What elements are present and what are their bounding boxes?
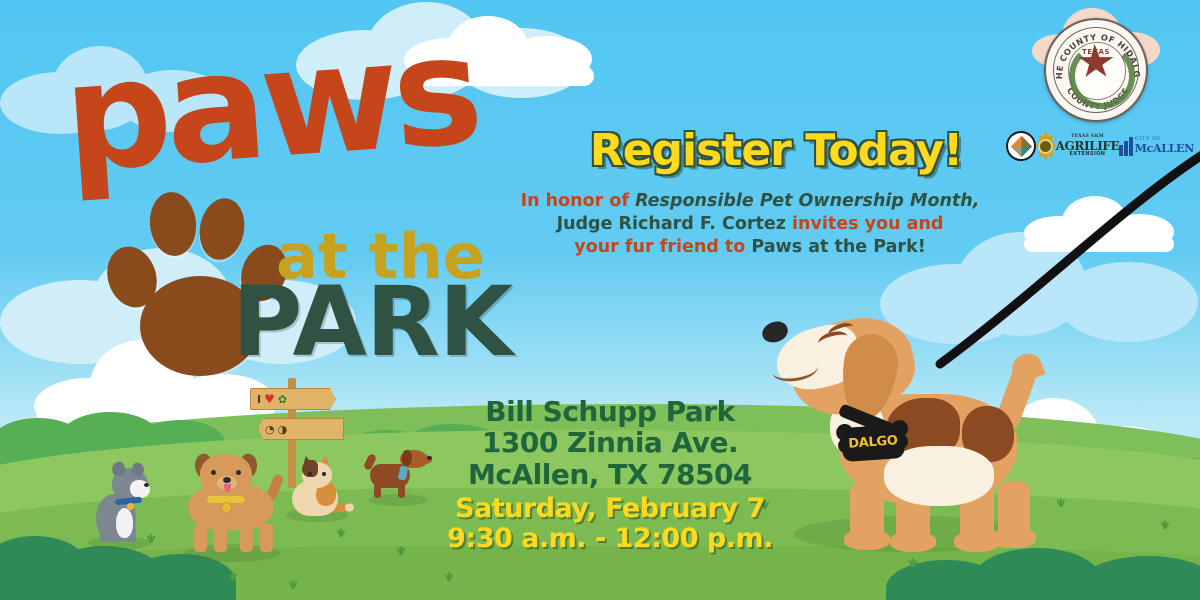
- sheriff-star-badge-logo: [1036, 130, 1056, 162]
- datetime-block: Saturday, February 7 9:30 a.m. - 12:00 p…: [440, 494, 780, 554]
- heart-icon: ♥: [264, 392, 275, 406]
- hidalgo-county-judge-seal: THE COUNTY OF HIDALGO COUNTY JUDGE TEXAS: [1044, 18, 1148, 122]
- grass-tuft: [444, 572, 454, 581]
- event-date: Saturday, February 7: [440, 494, 780, 524]
- sign-i-label: I: [257, 393, 261, 406]
- honor-part-2: Responsible Pet Ownership Month,: [635, 191, 979, 211]
- agrilife-line-3: EXTENSION: [1070, 152, 1106, 157]
- grass-tuft: [288, 580, 298, 589]
- honor-part-5: your fur friend to: [574, 237, 751, 257]
- venue-street: 1300 Zinnia Ave.: [440, 427, 780, 458]
- honor-part-1: In honor of: [521, 191, 635, 211]
- city-of-mcallen-logo: CITY OF McALLEN: [1119, 137, 1194, 156]
- seal-disc: THE COUNTY OF HIDALGO COUNTY JUDGE TEXAS: [1044, 18, 1148, 122]
- tan-dog-illustration: [178, 448, 288, 560]
- event-time: 9:30 a.m. - 12:00 p.m.: [440, 524, 780, 554]
- texas-am-agrilife-extension-logo: TEXAS A&M AGRILIFE EXTENSION: [1056, 135, 1120, 157]
- cat-face-icon: ◑: [278, 423, 288, 436]
- logo-word-paws: paws: [59, 16, 481, 194]
- honor-part-6: Paws at the Park!: [751, 237, 925, 257]
- dog-bone-name-tag: DALGO: [841, 424, 905, 462]
- dachshund-illustration: [366, 444, 436, 508]
- honor-part-3: Judge Richard F. Cortez: [557, 214, 792, 234]
- grass-tuft: [396, 546, 406, 555]
- event-details: Bill Schupp Park 1300 Zinnia Ave. McAlle…: [440, 396, 780, 555]
- venue-city: McAllen, TX 78504: [440, 459, 780, 490]
- grass-tuft: [336, 528, 346, 537]
- cat-illustration: [282, 452, 352, 524]
- venue-block: Bill Schupp Park 1300 Zinnia Ave. McAlle…: [440, 396, 780, 490]
- grey-dog-illustration: [82, 452, 156, 548]
- register-headline: Register Today!: [566, 128, 986, 174]
- mcallen-line-2: McALLEN: [1135, 143, 1194, 154]
- grass-tuft: [228, 572, 238, 581]
- event-logo: paws at the PARK: [46, 30, 566, 360]
- agrilife-line-2: AGRILIFE: [1056, 140, 1120, 152]
- partner-logo-row: TEXAS A&M AGRILIFE EXTENSION CITY OF McA…: [1006, 128, 1194, 164]
- venue-name: Bill Schupp Park: [440, 396, 780, 427]
- mcallen-bars-icon: [1119, 137, 1133, 156]
- constable-rainbow-badge-logo: [1006, 131, 1036, 161]
- grass-tuft: [1160, 520, 1170, 529]
- logo-word-park: PARK: [232, 274, 512, 370]
- signpost-sign-bottom: ◔ ◑: [258, 418, 344, 440]
- poster-canvas: I ♥ ✿ ◔ ◑: [0, 0, 1200, 600]
- signpost-sign-top: I ♥ ✿: [250, 388, 336, 410]
- paw-icon: ✿: [278, 393, 287, 406]
- honor-part-4: invites you and: [792, 214, 943, 234]
- honor-paragraph: In honor of Responsible Pet Ownership Mo…: [500, 190, 1000, 258]
- beagle-dog-illustration: DALGO: [746, 298, 1076, 588]
- dog-face-icon: ◔: [265, 423, 275, 436]
